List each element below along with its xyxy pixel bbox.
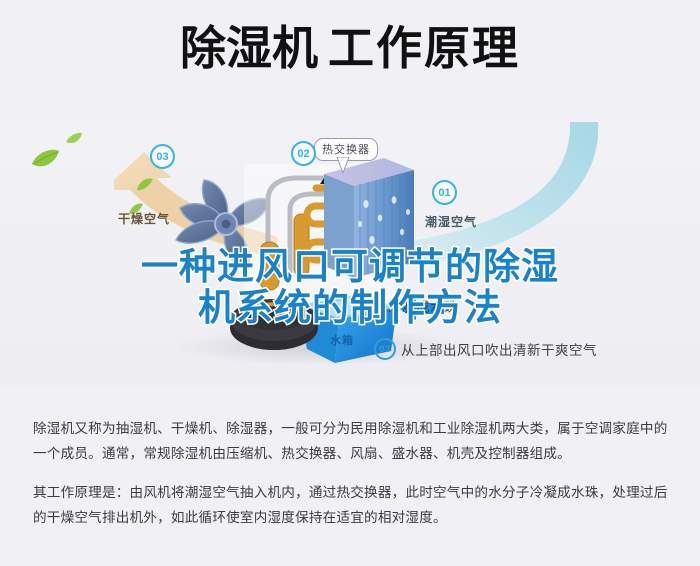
overlay-title-line1: 一种进风口可调节的除湿 <box>0 246 700 287</box>
body-paragraph-2: 其工作原理是：由风机将潮湿空气抽入机内，通过热交换器，此时空气中的水分子冷凝成水… <box>33 480 673 530</box>
page-title-part2: 工作原理 <box>328 22 520 74</box>
callout-pointer-icon <box>336 157 350 174</box>
leaf-icon <box>136 176 154 191</box>
page-title: 除湿机工作原理 <box>0 24 700 72</box>
step-badge-03: 03 <box>150 144 175 169</box>
leaf-icon <box>65 132 83 146</box>
step-caption-03: 03 从上部出风口吹出清新干爽空气 <box>374 338 597 360</box>
step-badge-01: 01 <box>432 180 457 205</box>
humid-air-label: 潮湿空气 <box>425 213 477 230</box>
article-body: 除湿机又称为抽湿机、干燥机、除湿器，一般可分为民用除湿机和工业除湿机两大类，属于… <box>33 416 673 530</box>
step-caption-03-badge: 03 <box>374 338 396 360</box>
dry-air-label: 干燥空气 <box>118 210 170 227</box>
leaf-icon <box>30 148 60 170</box>
body-paragraph-1: 除湿机又称为抽湿机、干燥机、除湿器，一般可分为民用除湿机和工业除湿机两大类，属于… <box>33 416 673 466</box>
overlay-title-line2: 机系统的制作方法 <box>0 287 700 328</box>
page-title-part1: 除湿机 <box>180 22 318 74</box>
step-badge-02: 02 <box>291 141 316 166</box>
water-tank-label: 水箱 <box>330 332 354 348</box>
page-root: 除湿机工作原理 <box>0 0 700 566</box>
overlay-watermark-title: 一种进风口可调节的除湿 机系统的制作方法 <box>0 246 700 329</box>
step-caption-03-text: 从上部出风口吹出清新干爽空气 <box>401 339 597 359</box>
